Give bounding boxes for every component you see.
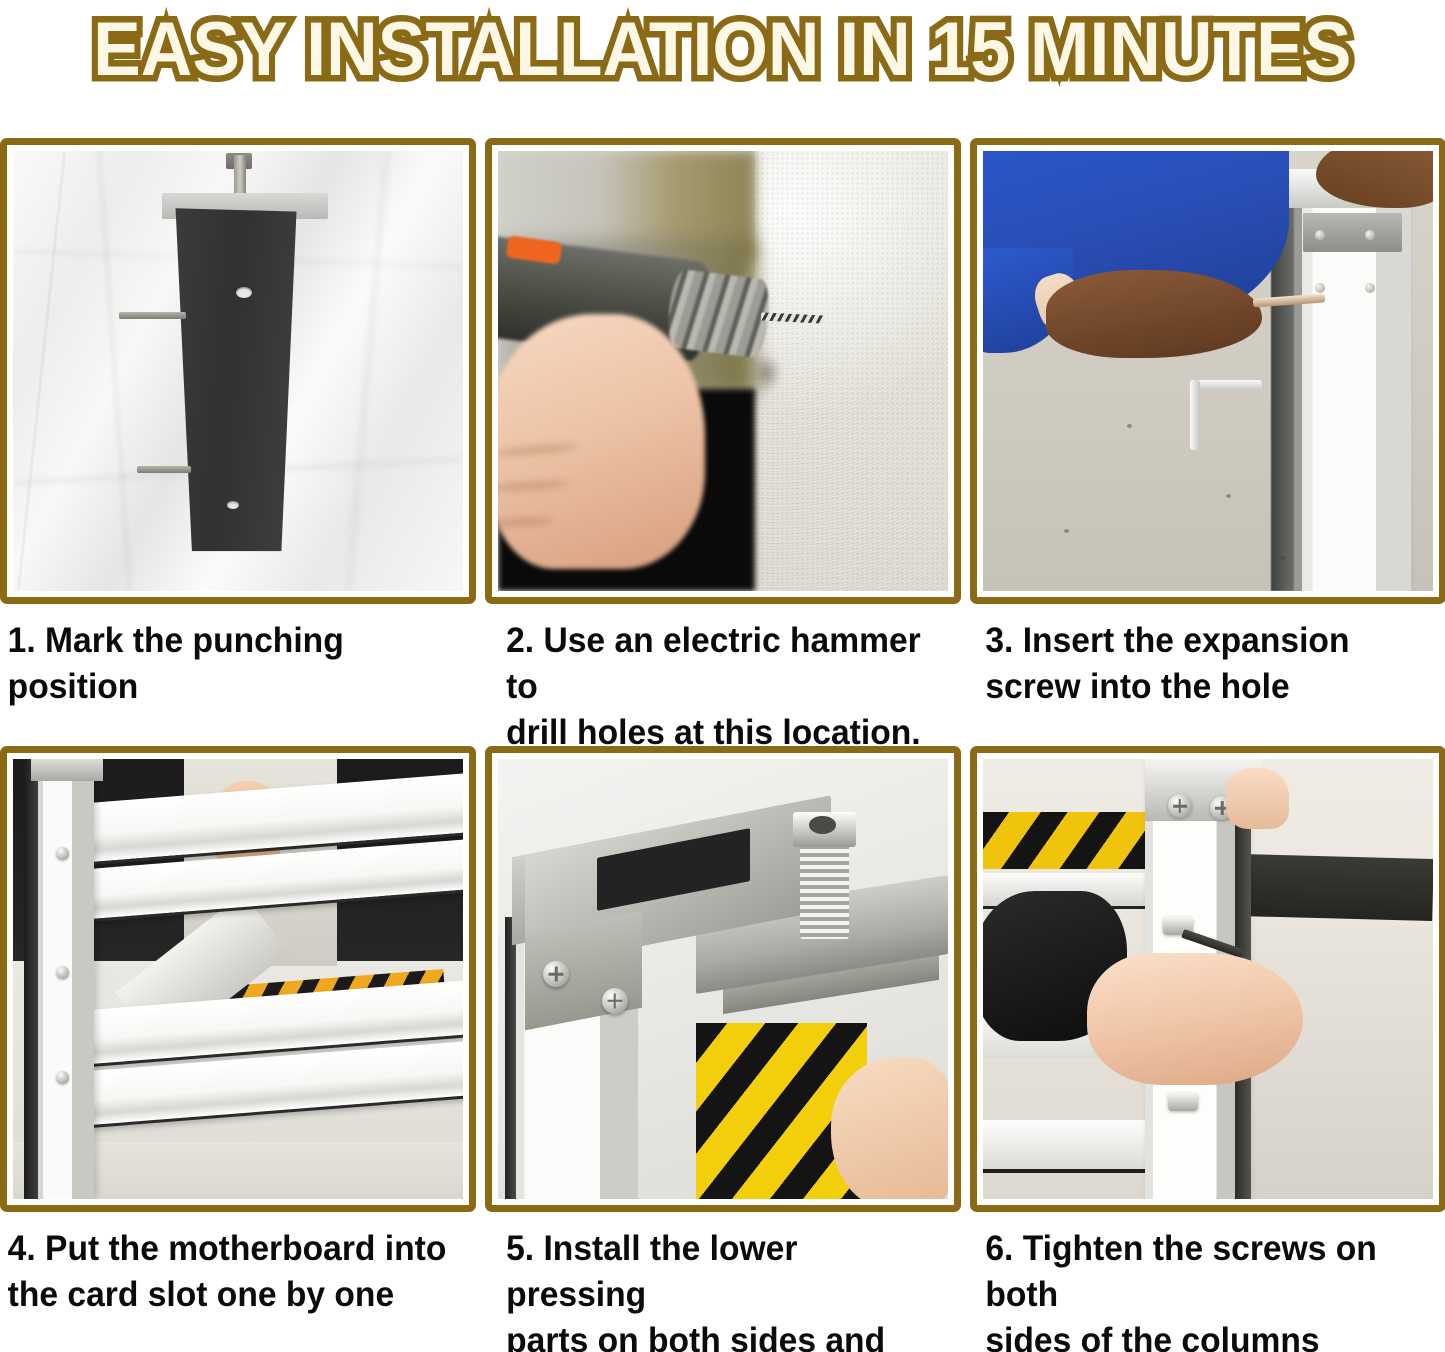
step-card-1: 1. Mark the punching position: [0, 138, 476, 756]
allen-key-short-arm: [1190, 380, 1200, 450]
hex-socket-recess: [809, 816, 836, 834]
installer-thumb: [1226, 768, 1289, 830]
mounting-stud-lower: [137, 466, 191, 473]
step-card-4: 4. Put the motherboard into the card slo…: [0, 746, 476, 1352]
step-6-caption: 6. Tighten the screws on both sides of t…: [970, 1212, 1427, 1352]
step-3-caption: 3. Insert the expansion screw into the h…: [970, 604, 1427, 710]
barrier-board-lower: [983, 1120, 1154, 1173]
step-4-caption: 4. Put the motherboard into the card slo…: [0, 1212, 457, 1318]
installer-hand-tightening: [1087, 953, 1303, 1085]
step-6-photo: [983, 759, 1433, 1199]
column-screw-4: [1365, 283, 1375, 293]
column-top-bracket: [31, 759, 103, 781]
page-title: EASY INSTALLATION IN 15 MINUTES: [93, 12, 1351, 88]
step-3-photo-frame: [970, 138, 1445, 604]
installation-guide-page: EASY INSTALLATION IN 15 MINUTES: [0, 0, 1445, 1352]
page-title-banner: EASY INSTALLATION IN 15 MINUTES: [0, 0, 1445, 100]
step-6-photo-frame: [970, 746, 1445, 1212]
installer-hand-lower: [831, 1058, 948, 1199]
step-1-caption: 1. Mark the punching position: [0, 604, 457, 710]
top-screw-1: [1168, 794, 1192, 818]
step-card-6: 6. Tighten the screws on both sides of t…: [970, 746, 1445, 1352]
white-textured-wall: [755, 151, 949, 591]
column-left-edge: [505, 917, 516, 1199]
column-bolt-2: [56, 966, 69, 979]
drill-dust-cloud: [750, 353, 782, 393]
step-4-photo: [13, 759, 463, 1199]
drill-chuck: [665, 268, 773, 359]
side-fastener-lower: [1168, 1093, 1198, 1111]
column-bolt-1: [56, 847, 69, 860]
step-3-photo: [983, 151, 1433, 591]
step-2-photo-frame: [485, 138, 961, 604]
step-2-caption: 2. Use an electric hammer to drill holes…: [485, 604, 942, 756]
step-card-2: 2. Use an electric hammer to drill holes…: [485, 138, 961, 756]
column-screw-2: [1365, 230, 1375, 240]
top-threaded-rod: [234, 155, 246, 195]
operator-hand: [498, 314, 705, 569]
steps-grid-row-2: 4. Put the motherboard into the card slo…: [0, 746, 1445, 1352]
column-dark-edge: [24, 759, 38, 1199]
slotted-column: [36, 759, 95, 1199]
steps-grid-row-1: 1. Mark the punching position: [0, 138, 1445, 756]
bracket-screw-2: [602, 988, 628, 1014]
step-4-photo-frame: [0, 746, 476, 1212]
hazard-stripe-board: [983, 812, 1145, 869]
column-screw-3: [1315, 283, 1325, 293]
step-card-5: 5. Install the lower pressing parts on b…: [485, 746, 961, 1352]
step-1-photo-frame: [0, 138, 476, 604]
step-card-3: 3. Insert the expansion screw into the h…: [970, 138, 1445, 756]
allen-key-arm: [1190, 380, 1262, 390]
worker-left-arm: [1046, 270, 1262, 358]
step-1-photo: [13, 151, 463, 591]
step-5-photo-frame: [485, 746, 961, 1212]
post-hole-lower: [227, 501, 239, 509]
step-5-caption: 5. Install the lower pressing parts on b…: [485, 1212, 942, 1352]
mounting-stud-upper: [119, 312, 187, 319]
step-5-photo: [498, 759, 948, 1199]
step-2-photo: [498, 151, 948, 591]
